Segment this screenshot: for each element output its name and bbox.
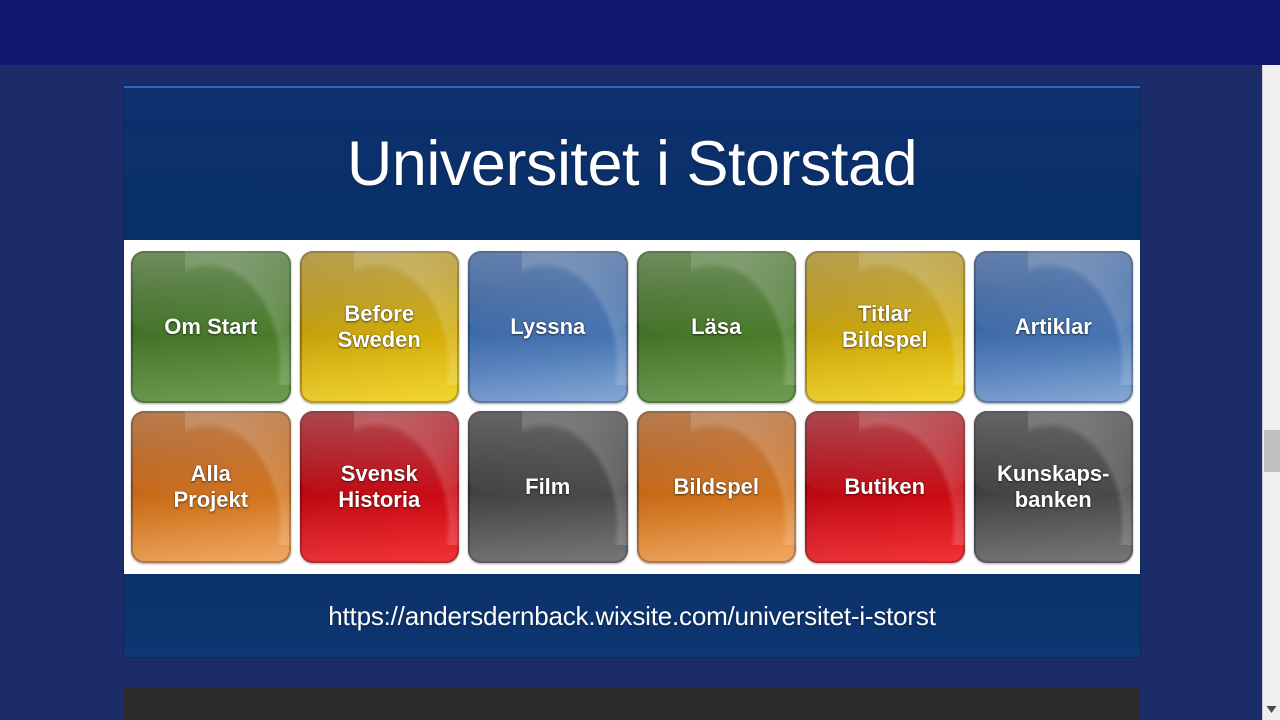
tile-bottom-glow [131,333,291,403]
vertical-scrollbar[interactable] [1262,65,1280,720]
tile-label: Läsa [685,314,747,340]
tile-alla-projekt[interactable]: Alla Projekt [131,411,291,563]
tile-label: Before Sweden [332,301,427,353]
tile-bottom-glow [637,493,797,563]
tile-label: Titlar Bildspel [836,301,934,353]
tile-bottom-glow [974,333,1134,403]
tile-svensk-historia[interactable]: Svensk Historia [300,411,460,563]
tile-label: Svensk Historia [332,461,426,513]
tile-kunskapsbanken[interactable]: Kunskaps- banken [974,411,1134,563]
top-chrome-bar [0,0,1280,65]
tile-label: Om Start [158,314,263,340]
next-slide-strip [124,688,1140,720]
tile-om-start[interactable]: Om Start [131,251,291,403]
page-title: Universitet i Storstad [347,128,917,200]
tile-film[interactable]: Film [468,411,628,563]
tile-bottom-glow [637,333,797,403]
tile-label: Bildspel [667,474,765,500]
tile-label: Film [519,474,576,500]
tile-titlar-bildspel[interactable]: Titlar Bildspel [805,251,965,403]
tile-label: Alla Projekt [167,461,254,513]
tile-bottom-glow [468,493,628,563]
button-grid: Om StartBefore SwedenLyssnaLäsaTitlar Bi… [131,251,1133,563]
tile-before-sweden[interactable]: Before Sweden [300,251,460,403]
button-panel: Om StartBefore SwedenLyssnaLäsaTitlar Bi… [124,240,1140,574]
tile-bottom-glow [468,333,628,403]
tile-lyssna[interactable]: Lyssna [468,251,628,403]
tile-artiklar[interactable]: Artiklar [974,251,1134,403]
slide-footer: https://andersdernback.wixsite.com/unive… [124,574,1140,657]
tile-label: Lyssna [504,314,591,340]
tile-bildspel[interactable]: Bildspel [637,411,797,563]
tile-butiken[interactable]: Butiken [805,411,965,563]
scrollbar-thumb[interactable] [1264,430,1280,472]
website-url[interactable]: https://andersdernback.wixsite.com/unive… [328,601,935,632]
slide-title-area: Universitet i Storstad [124,88,1140,240]
screen: Universitet i Storstad Om StartBefore Sw… [0,0,1280,720]
tile-lasa[interactable]: Läsa [637,251,797,403]
tile-bottom-glow [805,493,965,563]
tile-label: Butiken [838,474,931,500]
tile-label: Kunskaps- banken [991,461,1115,513]
tile-label: Artiklar [1009,314,1098,340]
scroll-down-arrow-icon[interactable] [1263,701,1280,718]
presentation-slide: Universitet i Storstad Om StartBefore Sw… [124,86,1140,657]
